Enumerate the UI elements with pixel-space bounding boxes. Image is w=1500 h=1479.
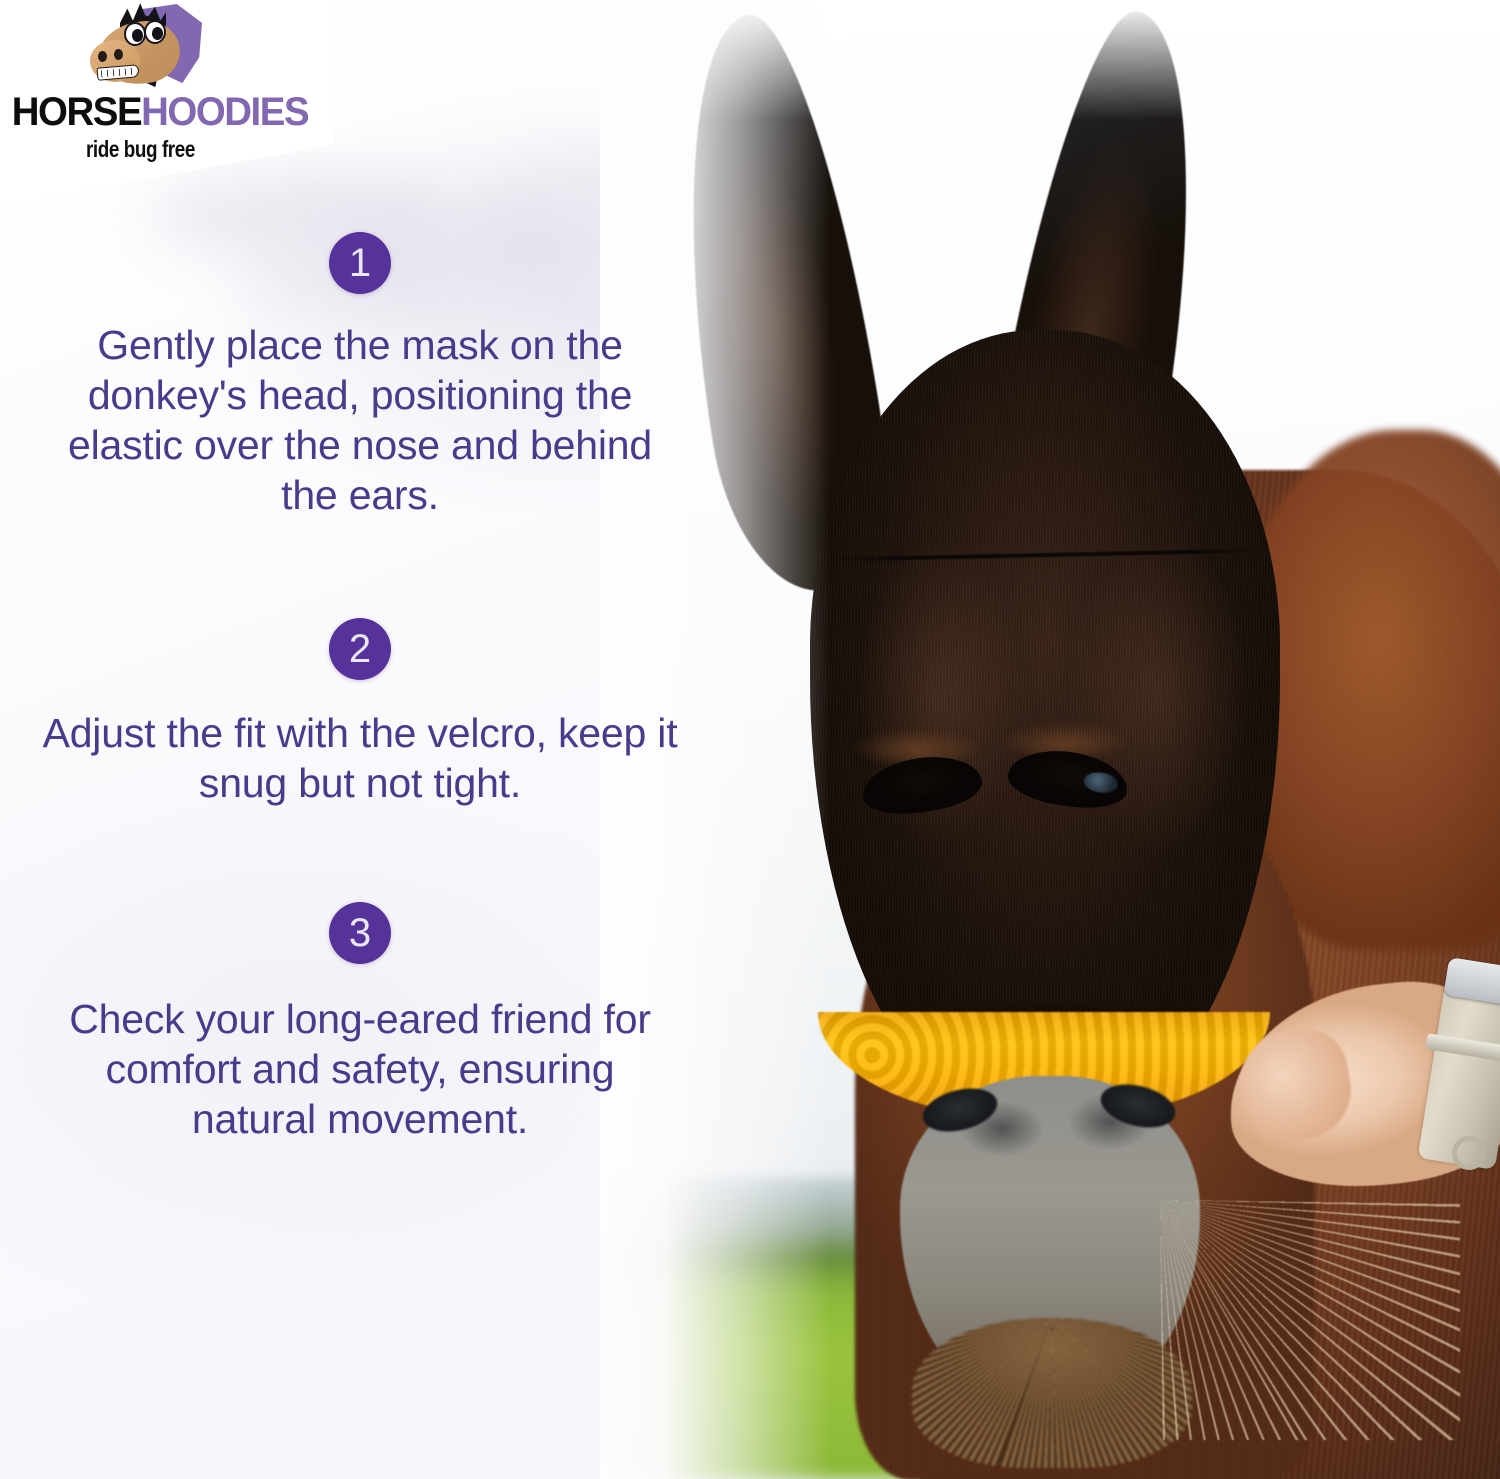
brand-tagline: ride bug free (86, 136, 195, 163)
step-text-1: Gently place the mask on the donkey's he… (0, 320, 720, 520)
horse-nostril-icon (114, 49, 123, 60)
step-badge-2: 2 (329, 618, 391, 680)
donkey-chin (912, 1318, 1192, 1468)
horse-pupil-icon (132, 29, 143, 42)
step-item-2: 2 Adjust the fit with the velcro, keep i… (0, 618, 720, 808)
brand-word-horse: HORSE (12, 90, 141, 134)
horse-nostril-icon (98, 51, 107, 62)
horse-pupil-icon (152, 27, 163, 40)
step-item-3: 3 Check your long-eared friend for comfo… (0, 902, 720, 1144)
donkey-photo (600, 0, 1500, 1479)
donkey-whiskers (1160, 1200, 1460, 1440)
instruction-steps: 1 Gently place the mask on the donkey's … (0, 0, 720, 1479)
horse-mascot-icon (84, 0, 202, 100)
brand-logo-inner: HORSEHOODIES ride bug free (0, 0, 300, 170)
step-text-2: Adjust the fit with the velcro, keep it … (0, 708, 720, 808)
step-item-1: 1 Gently place the mask on the donkey's … (0, 232, 720, 520)
step-badge-3: 3 (329, 902, 391, 964)
brand-word-hoodies: HOODIES (141, 90, 308, 134)
brand-wordmark: HORSEHOODIES (12, 92, 288, 132)
step-badge-1: 1 (329, 232, 391, 294)
poster-canvas: HORSEHOODIES ride bug free 1 Gently plac… (0, 0, 1500, 1479)
step-text-3: Check your long-eared friend for comfort… (0, 994, 720, 1144)
